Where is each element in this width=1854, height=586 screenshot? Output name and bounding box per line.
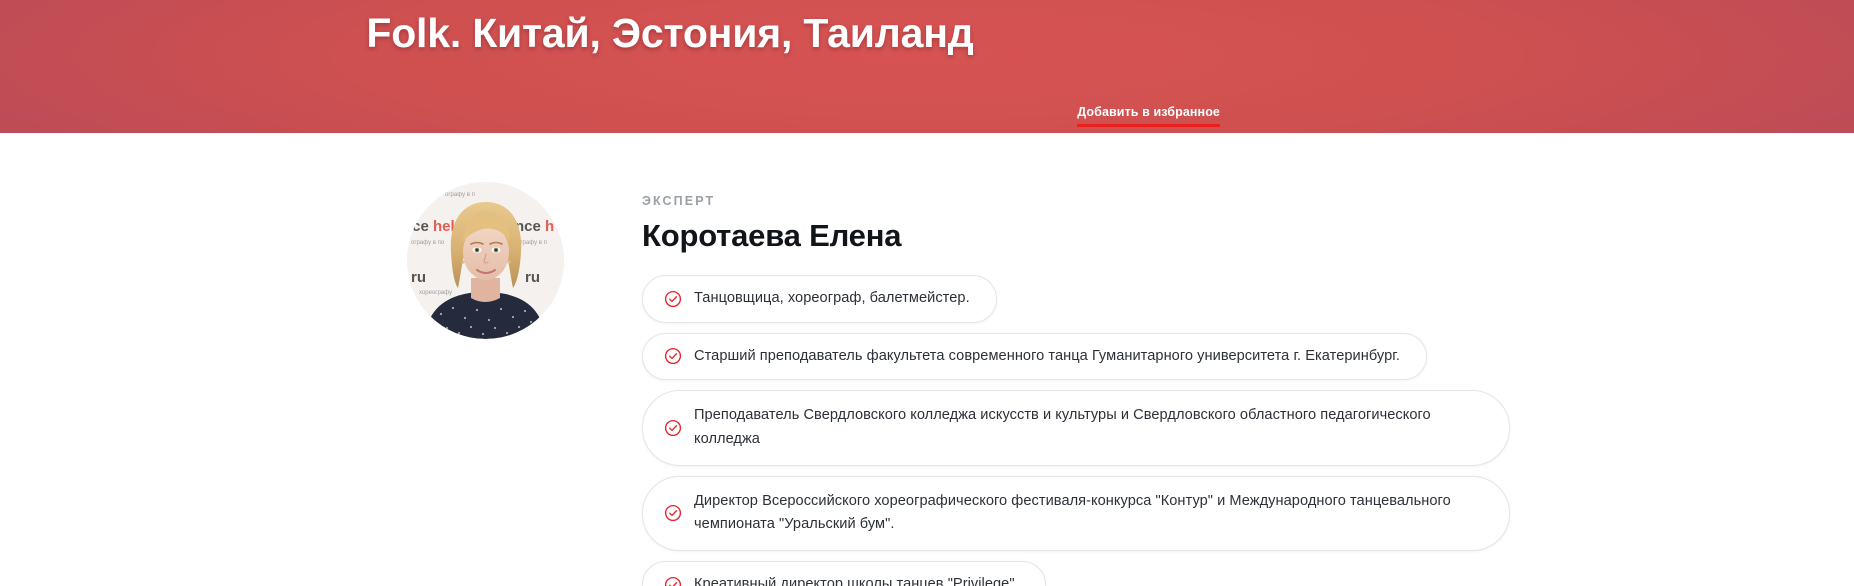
svg-text:hel: hel	[433, 218, 455, 235]
expert-card: nce hel nce h ru ru ографу в по ографу в…	[407, 182, 1662, 586]
credential-text: Креативный директор школы танцев "Privil…	[694, 573, 1019, 586]
page-title: Folk. Китай, Эстония, Таиланд	[0, 8, 1340, 59]
svg-text:ru: ru	[411, 269, 426, 286]
expert-kicker: ЭКСПЕРТ	[642, 194, 1662, 208]
add-to-favorites-link[interactable]: Добавить в избранное	[1077, 105, 1220, 127]
svg-text:ографу в п: ографу в п	[445, 192, 475, 198]
content-area: nce hel nce h ru ru ографу в по ографу в…	[0, 133, 1854, 586]
hero-banner: Folk. Китай, Эстония, Таиланд Добавить в…	[0, 0, 1854, 133]
check-circle-icon	[664, 347, 682, 365]
avatar: nce hel nce h ru ru ографу в по ографу в…	[407, 182, 564, 339]
credential-chip[interactable]: Танцовщица, хореограф, балетмейстер.	[642, 275, 997, 323]
credential-text: Старший преподаватель факультета совреме…	[694, 345, 1400, 369]
expert-details: ЭКСПЕРТ Коротаева Елена Танцовщица, хоре…	[642, 182, 1662, 586]
check-circle-icon	[664, 576, 682, 586]
svg-text:ографу в п: ографу в п	[517, 240, 547, 246]
svg-text:ru: ru	[525, 269, 540, 286]
credential-chip[interactable]: Преподаватель Свердловского колледжа иск…	[642, 390, 1510, 465]
credential-chip[interactable]: Креативный директор школы танцев "Privil…	[642, 561, 1046, 586]
check-circle-icon	[664, 504, 682, 522]
credential-text: Танцовщица, хореограф, балетмейстер.	[694, 287, 970, 311]
credential-text: Преподаватель Свердловского колледжа иск…	[694, 404, 1483, 451]
svg-text:nce: nce	[407, 218, 429, 235]
svg-text:хореографу: хореографу	[419, 290, 452, 296]
credential-text: Директор Всероссийского хореографическог…	[694, 490, 1483, 537]
credential-chip[interactable]: Старший преподаватель факультета совреме…	[642, 333, 1427, 381]
check-circle-icon	[664, 419, 682, 437]
credential-list: Танцовщица, хореограф, балетмейстер. Ста…	[642, 275, 1662, 586]
credential-chip[interactable]: Директор Всероссийского хореографическог…	[642, 476, 1510, 551]
check-circle-icon	[664, 290, 682, 308]
svg-text:ографу в по: ографу в по	[411, 240, 445, 246]
favorite-action-wrap: Добавить в избранное	[1077, 103, 1220, 127]
expert-name: Коротаева Елена	[642, 218, 1662, 254]
page-root: Folk. Китай, Эстония, Таиланд Добавить в…	[0, 0, 1854, 586]
svg-text:h: h	[545, 218, 554, 235]
